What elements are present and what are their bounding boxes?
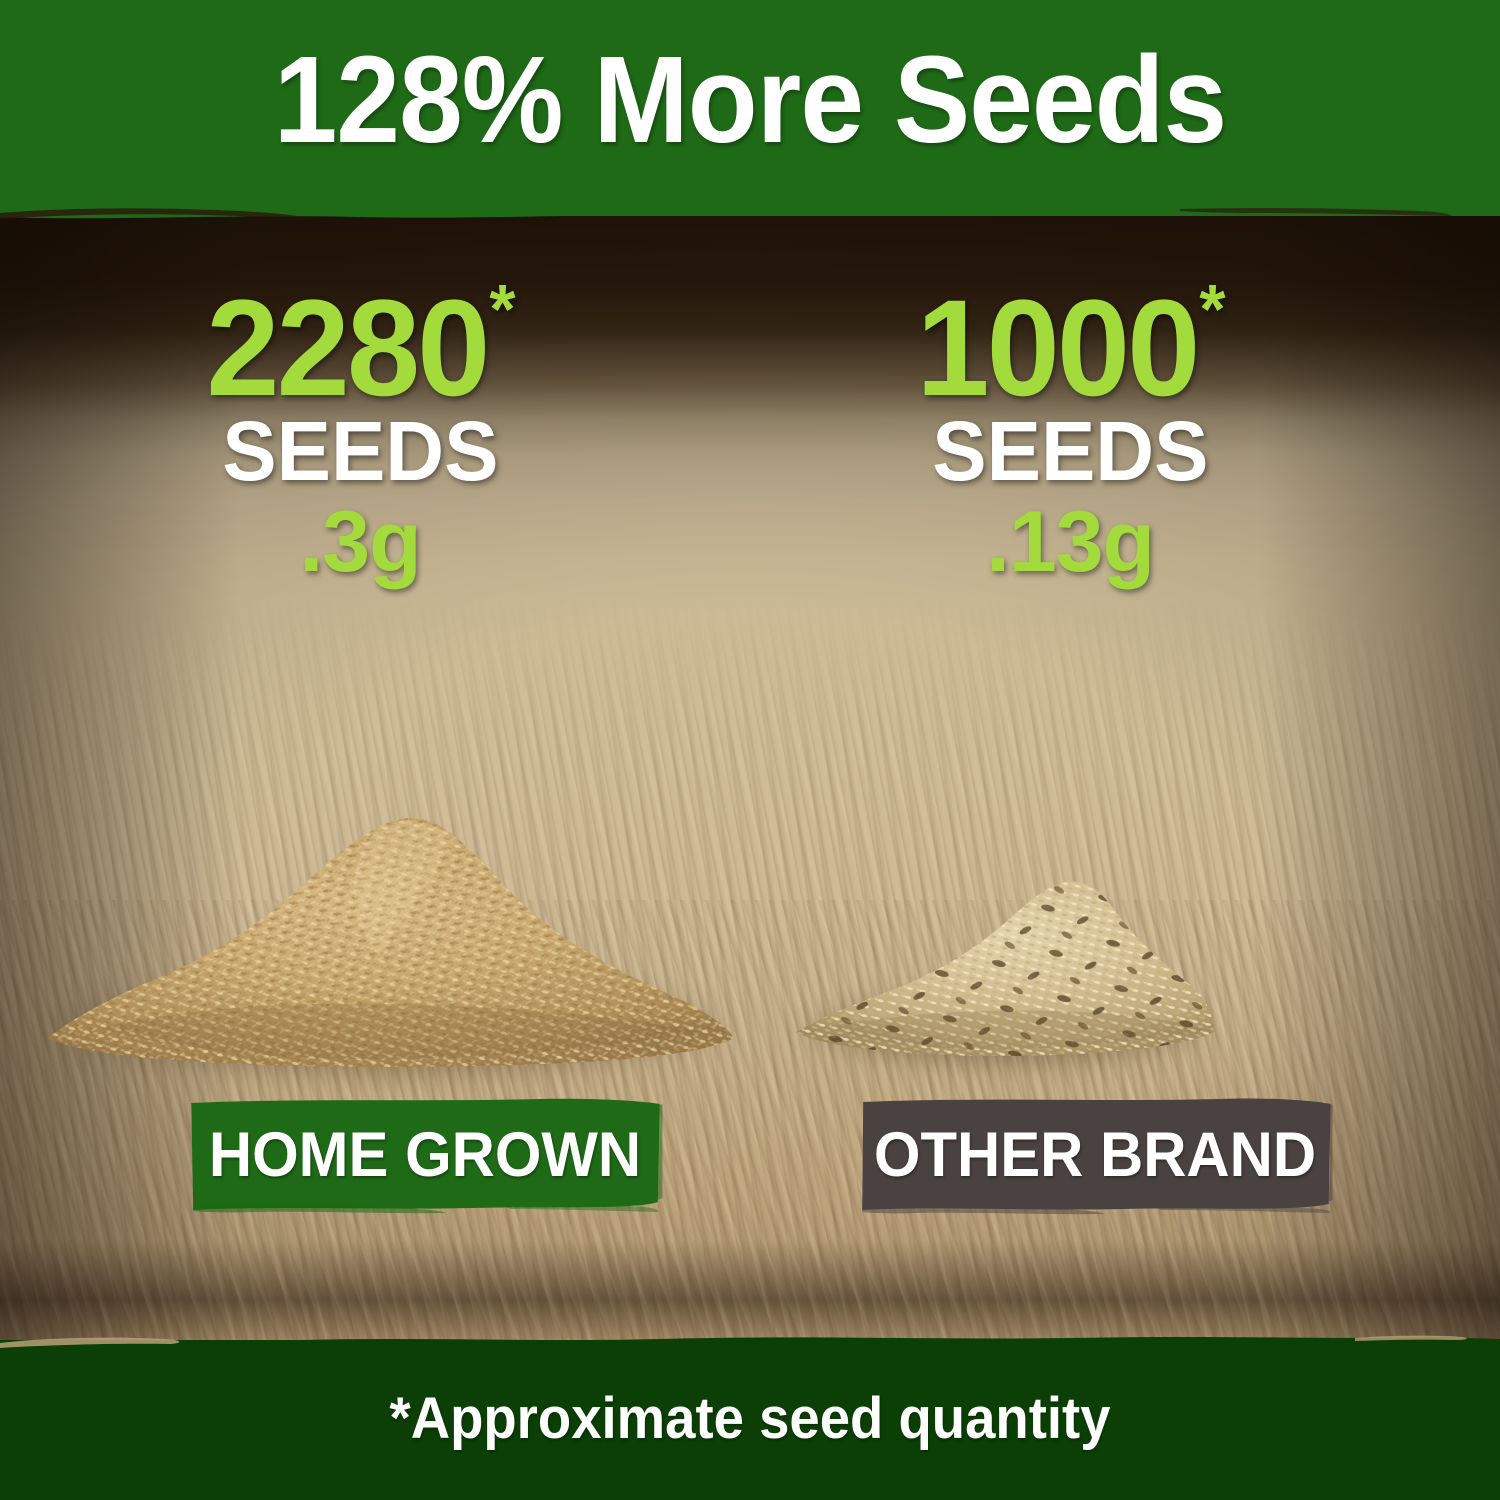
badge-other-brand[interactable]: OTHER BRAND xyxy=(858,1094,1333,1216)
seed-count-other-brand: 1000* xyxy=(917,280,1223,417)
pile-shape xyxy=(790,850,1220,1060)
seed-count-value: 1000 xyxy=(917,280,1198,417)
stat-column-home-grown: 2280* SEEDS .3g xyxy=(40,280,680,585)
seed-weight-home-grown: .3g xyxy=(299,499,420,585)
seeds-label-other-brand: SEEDS xyxy=(932,409,1208,493)
footnote: *Approximate seed quantity xyxy=(45,1385,1455,1452)
small-seed-pile xyxy=(790,850,1220,1060)
pile-shape xyxy=(40,770,740,1070)
asterisk-icon: * xyxy=(1200,274,1223,344)
seed-count-home-grown: 2280* xyxy=(207,280,513,417)
large-seed-pile xyxy=(40,770,740,1070)
seed-weight-other-brand: .13g xyxy=(986,499,1154,585)
infographic-canvas: 128% More Seeds 2280* SEEDS .3g 1000* SE… xyxy=(0,0,1500,1500)
badge-label: HOME GROWN xyxy=(209,1119,641,1191)
stat-column-other-brand: 1000* SEEDS .13g xyxy=(750,280,1390,585)
page-title: 128% More Seeds xyxy=(53,0,1448,200)
seed-count-value: 2280 xyxy=(207,280,488,417)
seeds-label-home-grown: SEEDS xyxy=(222,409,498,493)
asterisk-icon: * xyxy=(490,274,513,344)
stats-row: 2280* SEEDS .3g 1000* SEEDS .13g xyxy=(0,280,1500,610)
badge-home-grown[interactable]: HOME GROWN xyxy=(188,1094,663,1216)
wood-surface-background xyxy=(0,0,1500,1500)
badge-label: OTHER BRAND xyxy=(874,1119,1316,1191)
